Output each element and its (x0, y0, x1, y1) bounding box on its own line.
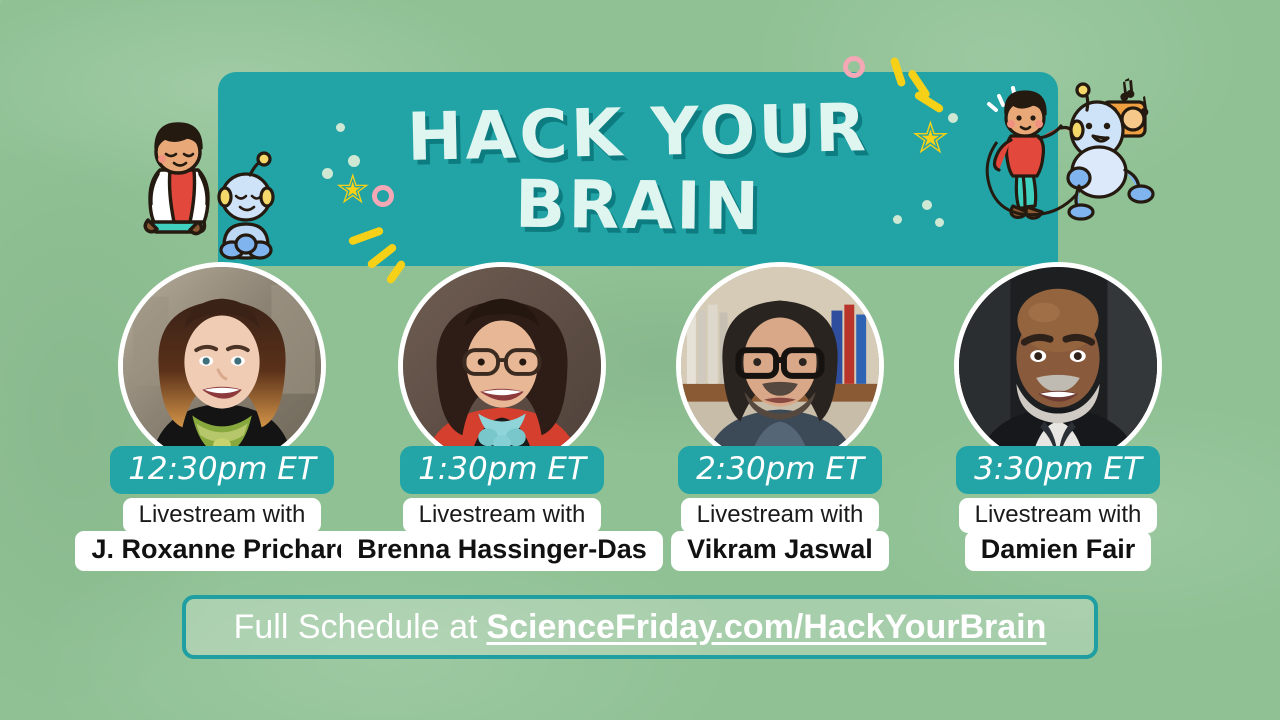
speaker-time: 2:30pm ET (678, 446, 882, 494)
portrait-photo (959, 267, 1157, 465)
title-panel (218, 72, 1058, 266)
avatar (118, 262, 326, 470)
speaker-card[interactable]: 2:30pm ET Livestream with Vikram Jaswal (630, 262, 930, 571)
speaker-name: J. Roxanne Prichard (75, 531, 368, 571)
schedule-prefix: Full Schedule at (234, 608, 478, 647)
speaker-time: 1:30pm ET (400, 446, 604, 494)
speaker-name: Vikram Jaswal (671, 531, 889, 571)
poster: Hack Your Brain ✭ ✭ (0, 0, 1280, 720)
speaker-card[interactable]: 3:30pm ET Livestream with Damien Fair (908, 262, 1208, 571)
schedule-bar[interactable]: Full Schedule at ScienceFriday.com/HackY… (182, 595, 1098, 659)
schedule-link[interactable]: ScienceFriday.com/HackYourBrain (486, 608, 1046, 647)
speaker-list: 12:30pm ET Livestream with J. Roxanne Pr… (0, 262, 1280, 582)
portrait-photo (681, 267, 879, 465)
livestream-label: Livestream with (681, 498, 880, 533)
speaker-name: Damien Fair (965, 531, 1152, 571)
portrait-photo (403, 267, 601, 465)
avatar (676, 262, 884, 470)
avatar (398, 262, 606, 470)
livestream-label: Livestream with (123, 498, 322, 533)
speaker-time: 3:30pm ET (956, 446, 1160, 494)
portrait-photo (123, 267, 321, 465)
speaker-card[interactable]: 12:30pm ET Livestream with J. Roxanne Pr… (72, 262, 372, 571)
speaker-name: Brenna Hassinger-Das (341, 531, 663, 571)
avatar (954, 262, 1162, 470)
livestream-label: Livestream with (403, 498, 602, 533)
livestream-label: Livestream with (959, 498, 1158, 533)
speaker-time: 12:30pm ET (110, 446, 334, 494)
speaker-card[interactable]: 1:30pm ET Livestream with Brenna Hassing… (352, 262, 652, 571)
